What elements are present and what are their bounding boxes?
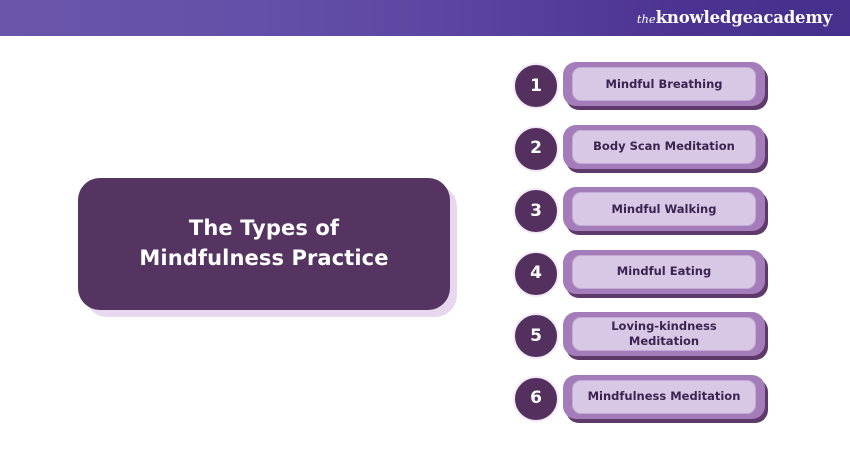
step-number-badge: 3 <box>513 188 559 234</box>
steps-list: Mindful Breathing 1 Body Scan Meditation… <box>513 62 773 437</box>
step-label: Mindful Walking <box>606 202 723 217</box>
brand-logo: theknowledgeacademy <box>637 10 832 27</box>
step-inner-panel: Mindful Walking <box>572 192 756 226</box>
list-item: Mindfulness Meditation 6 <box>513 375 773 423</box>
list-item: Body Scan Meditation 2 <box>513 125 773 173</box>
title-card: The Types of Mindfulness Practice <box>78 178 450 310</box>
step-label: Loving-kindness Meditation <box>605 319 723 348</box>
page-title: The Types of Mindfulness Practice <box>139 214 388 274</box>
step-number: 1 <box>530 78 542 95</box>
step-number-badge: 5 <box>513 313 559 359</box>
step-number-badge: 4 <box>513 251 559 297</box>
title-card-body: The Types of Mindfulness Practice <box>78 178 450 310</box>
step-number: 4 <box>530 265 542 282</box>
step-inner-panel: Mindfulness Meditation <box>572 380 756 414</box>
step-number: 6 <box>530 390 542 407</box>
brand-name: knowledgeacademy <box>656 8 832 27</box>
list-item: Loving-kindness Meditation 5 <box>513 312 773 360</box>
step-number-badge: 2 <box>513 126 559 172</box>
step-label: Mindful Breathing <box>600 77 729 92</box>
step-inner-panel: Body Scan Meditation <box>572 130 756 164</box>
step-label: Body Scan Meditation <box>587 139 741 154</box>
step-number: 2 <box>530 140 542 157</box>
list-item: Mindful Eating 4 <box>513 250 773 298</box>
step-inner-panel: Loving-kindness Meditation <box>572 317 756 351</box>
step-number-badge: 6 <box>513 376 559 422</box>
step-label: Mindful Eating <box>611 264 717 279</box>
list-item: Mindful Walking 3 <box>513 187 773 235</box>
step-number-badge: 1 <box>513 63 559 109</box>
header-bar: theknowledgeacademy <box>0 0 850 36</box>
step-number: 3 <box>530 203 542 220</box>
brand-prefix: the <box>637 12 656 26</box>
step-label: Mindfulness Meditation <box>582 389 747 404</box>
step-number: 5 <box>530 328 542 345</box>
list-item: Mindful Breathing 1 <box>513 62 773 110</box>
step-inner-panel: Mindful Breathing <box>572 67 756 101</box>
step-inner-panel: Mindful Eating <box>572 255 756 289</box>
